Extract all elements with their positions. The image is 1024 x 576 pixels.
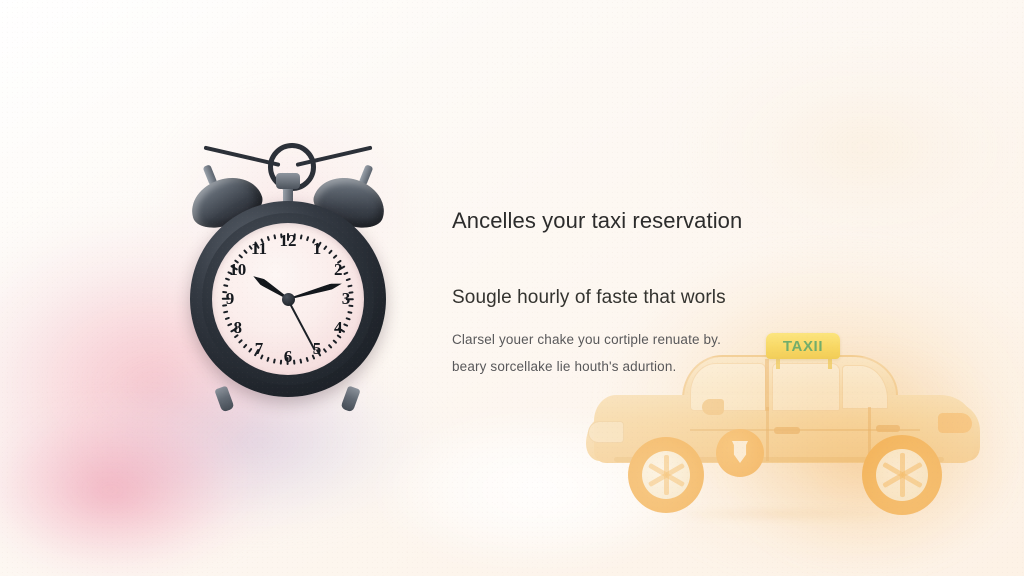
clock-foot-left [214,386,234,413]
clock-center-cap [282,293,295,306]
clock-numeral-12: 12 [277,232,299,250]
clock-numeral-8: 8 [227,319,249,337]
clock-foot-right [340,386,360,413]
taxi-illustration: TAXII [586,333,986,528]
clock-numeral-3: 3 [335,290,357,308]
clock-numeral-6: 6 [277,348,299,366]
clock-numeral-1: 1 [306,240,328,258]
clock-numeral-2: 2 [327,261,349,279]
taxi-side-mirror [702,399,724,415]
clock-numeral-7: 7 [248,340,270,358]
clock-numeral-4: 4 [327,319,349,337]
headline: Ancelles your taxi reservation [452,206,782,236]
clock-numeral-11: 11 [248,240,270,258]
taxi-roof-sign-label: TAXII [783,338,823,355]
taxi-b-pillar [765,359,769,411]
taxi-door-handle-front [774,427,800,434]
subheadline: Sougle hourly of faste that worls [452,284,782,312]
taxi-roof-sign: TAXII [766,333,840,359]
promo-banner: 121234567891011 Ancelles your taxi reser… [0,0,1024,576]
taxi-headlight [588,421,624,443]
clock-numeral-10: 10 [227,261,249,279]
taxi-door-seam-front [766,407,769,461]
clock-winder-knob [276,173,300,189]
taxi-door-handle-rear [876,425,900,432]
clock-numeral-5: 5 [306,340,328,358]
alarm-clock-icon: 121234567891011 [186,143,390,411]
taxi-rear-window [772,363,840,411]
clock-dial: 121234567891011 [212,223,364,375]
clock-numeral-9: 9 [219,290,241,308]
taxi-rear-hubcap [876,449,928,501]
taxi-front-hubcap [642,451,690,499]
taxi-taillight [938,413,972,433]
